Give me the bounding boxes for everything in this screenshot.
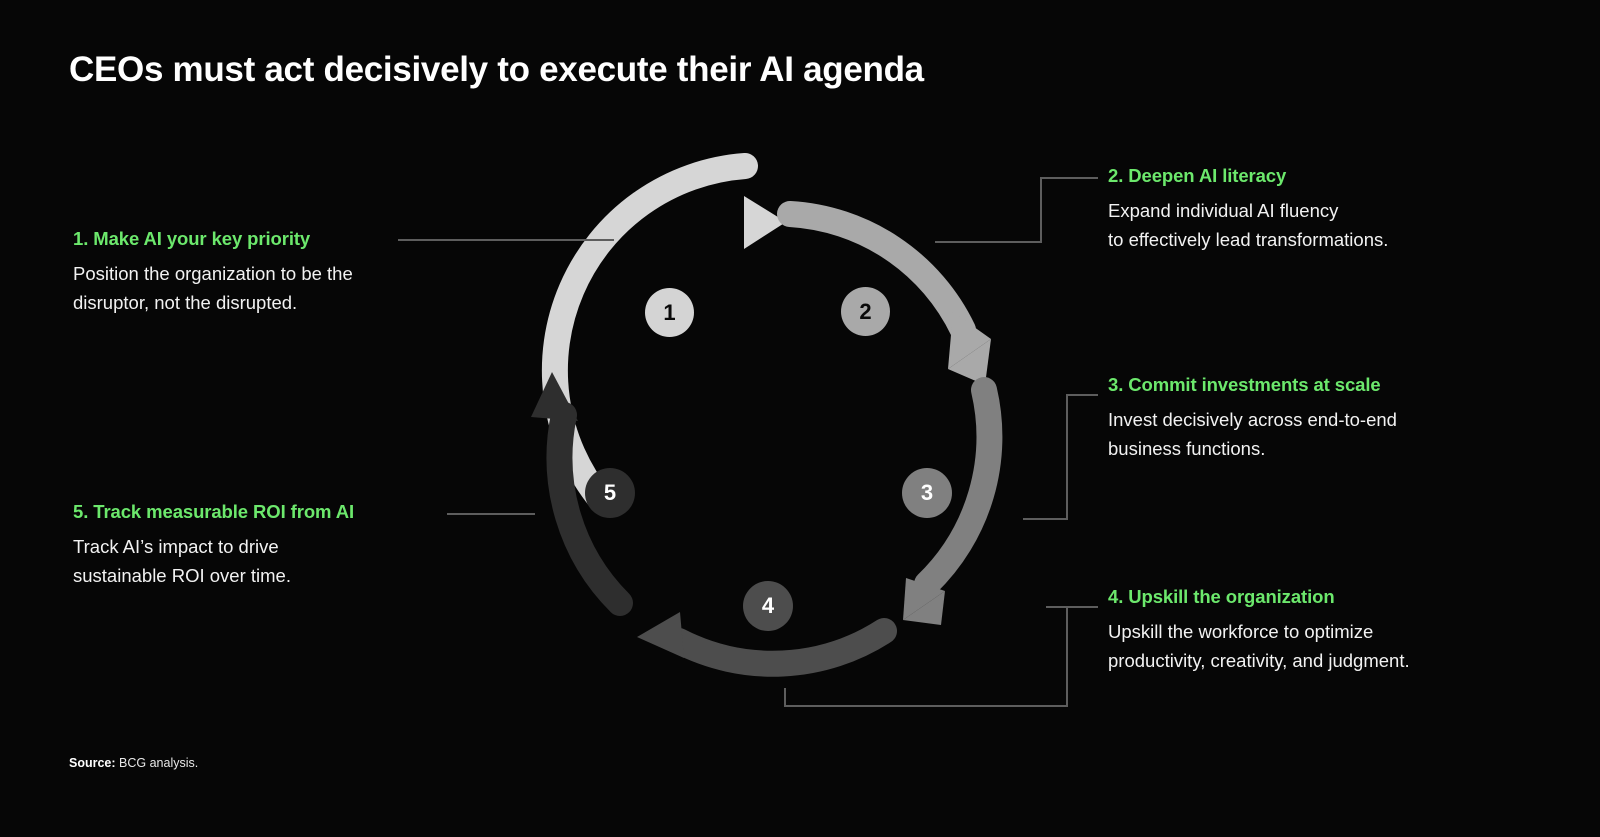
callout-step-5-body-line-2: sustainable ROI over time.: [73, 561, 354, 590]
source-text: BCG analysis.: [119, 756, 198, 770]
connector-line-1: [398, 239, 614, 241]
connector-line-4-top: [1046, 606, 1098, 608]
callout-step-5-body: Track AI’s impact to drive sustainable R…: [73, 532, 354, 590]
callout-step-5-heading: 5. Track measurable ROI from AI: [73, 501, 354, 523]
callout-step-1-heading: 1. Make AI your key priority: [73, 228, 353, 250]
callout-step-1: 1. Make AI your key priority Position th…: [73, 228, 353, 317]
callout-step-4-body-line-2: productivity, creativity, and judgment.: [1108, 646, 1410, 675]
callout-step-2-heading: 2. Deepen AI literacy: [1108, 165, 1388, 187]
step-badge-2: 2: [841, 287, 890, 336]
step-badge-4: 4: [743, 581, 793, 631]
callout-step-3: 3. Commit investments at scale Invest de…: [1108, 374, 1397, 463]
callout-step-2-body-line-2: to effectively lead transformations.: [1108, 225, 1388, 254]
cycle-arc-2: [790, 214, 991, 385]
connector-line-2-bottom: [935, 241, 1040, 243]
callout-step-4-body: Upskill the workforce to optimize produc…: [1108, 617, 1410, 675]
connector-line-3-vertical: [1066, 394, 1068, 520]
connector-line-2-vertical: [1040, 177, 1042, 243]
connector-line-4-vertical: [1066, 606, 1068, 707]
callout-step-2-body-line-1: Expand individual AI fluency: [1108, 196, 1388, 225]
step-badge-4-number: 4: [762, 595, 774, 617]
step-badge-5-number: 5: [604, 482, 616, 504]
callout-step-3-body: Invest decisively across end-to-end busi…: [1108, 405, 1397, 463]
source-note: Source: BCG analysis.: [69, 756, 198, 770]
callout-step-1-body-line-2: disruptor, not the disrupted.: [73, 288, 353, 317]
infographic-canvas: CEOs must act decisively to execute thei…: [0, 0, 1600, 837]
callout-step-3-heading: 3. Commit investments at scale: [1108, 374, 1397, 396]
callout-step-2-body: Expand individual AI fluency to effectiv…: [1108, 196, 1388, 254]
callout-step-4-body-line-1: Upskill the workforce to optimize: [1108, 617, 1410, 646]
connector-line-4-bottom: [784, 705, 1067, 707]
source-label: Source:: [69, 756, 116, 770]
callout-step-5-body-line-1: Track AI’s impact to drive: [73, 532, 354, 561]
callout-step-4-heading: 4. Upskill the organization: [1108, 586, 1410, 608]
step-badge-1: 1: [645, 288, 694, 337]
step-badge-3: 3: [902, 468, 952, 518]
connector-line-3-top: [1066, 394, 1098, 396]
step-badge-5: 5: [585, 468, 635, 518]
callout-step-4: 4. Upskill the organization Upskill the …: [1108, 586, 1410, 675]
callout-step-3-body-line-1: Invest decisively across end-to-end: [1108, 405, 1397, 434]
connector-line-5: [447, 513, 535, 515]
step-badge-2-number: 2: [859, 301, 871, 323]
connector-line-4-stub: [784, 688, 786, 707]
step-badge-1-number: 1: [663, 302, 675, 324]
callout-step-1-body-line-1: Position the organization to be the: [73, 259, 353, 288]
callout-step-3-body-line-2: business functions.: [1108, 434, 1397, 463]
connector-line-3-bottom: [1023, 518, 1066, 520]
callout-step-2: 2. Deepen AI literacy Expand individual …: [1108, 165, 1388, 254]
callout-step-1-body: Position the organization to be the disr…: [73, 259, 353, 317]
step-badge-3-number: 3: [921, 482, 933, 504]
connector-line-2-top: [1040, 177, 1098, 179]
callout-step-5: 5. Track measurable ROI from AI Track AI…: [73, 501, 354, 590]
